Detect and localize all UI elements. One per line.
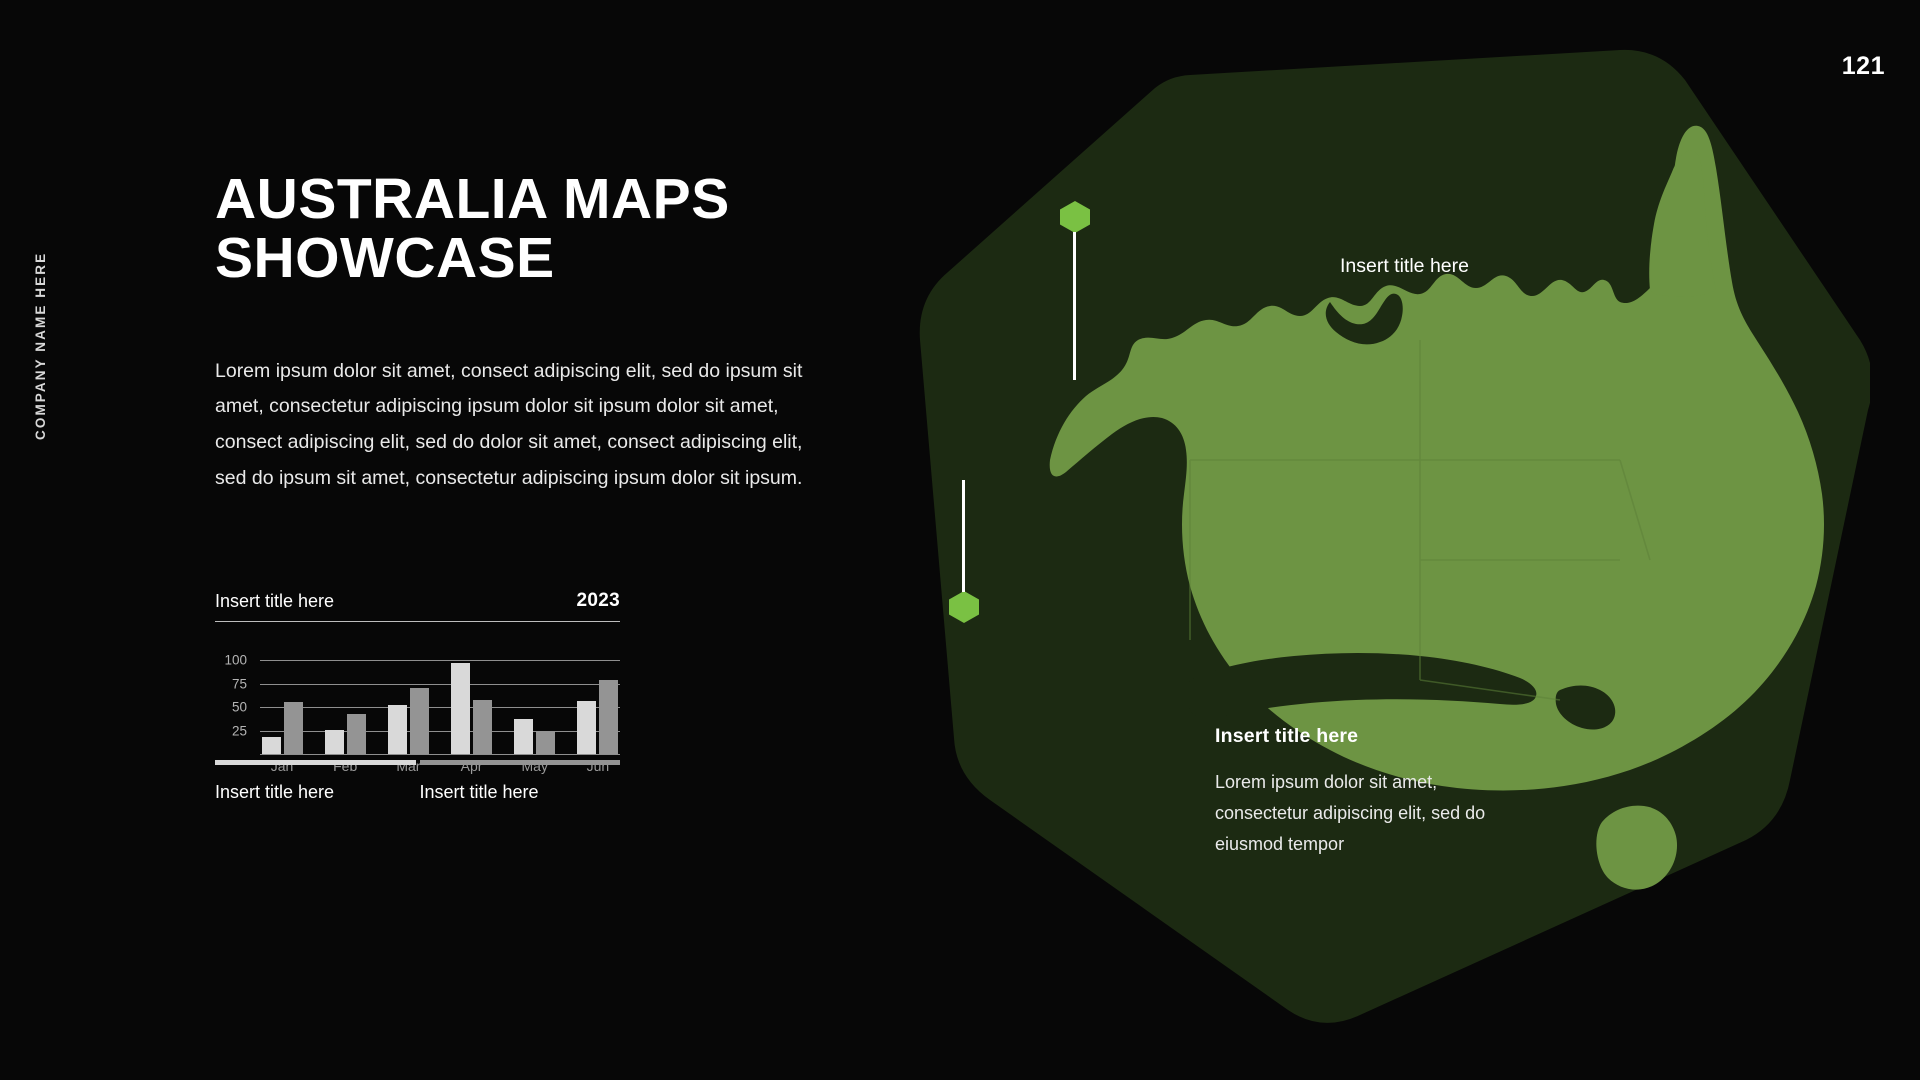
map-pin-description-bottom: Lorem ipsum dolor sit amet, consectetur …: [1215, 767, 1515, 860]
bar-chart: Insert title here 2023 100755025 JanFebM…: [215, 590, 620, 776]
bar-group: [576, 680, 620, 754]
chart-legend: Insert title here Insert title here: [215, 760, 620, 803]
chart-plot-area: 100755025 JanFebMarAprMayJun: [215, 646, 620, 776]
page-title: AUSTRALIA MAPS SHOWCASE: [215, 170, 855, 289]
bar-series-1: [388, 705, 407, 754]
company-name-vertical: COMPANY NAME HERE: [33, 252, 48, 440]
bar-series-2: [410, 688, 429, 754]
bar-group: [323, 714, 367, 754]
map-pin-hex-top[interactable]: [1058, 200, 1092, 234]
y-tick-label: 75: [215, 676, 247, 691]
gridline-baseline: [260, 754, 620, 755]
map-pin-stem-top: [1073, 232, 1076, 380]
map-pin-stem-bottom: [962, 480, 965, 592]
legend-color-bars: [215, 760, 620, 765]
legend-label-series-2: Insert title here: [420, 782, 621, 803]
bar-series-2: [473, 700, 492, 754]
legend-label-series-1: Insert title here: [215, 782, 416, 803]
body-paragraph: Lorem ipsum dolor sit amet, consect adip…: [215, 354, 820, 498]
bar-group: [513, 719, 557, 754]
chart-title: Insert title here: [215, 591, 334, 612]
map-pin-label-bottom: Insert title here: [1215, 725, 1515, 748]
bar-series-2: [536, 731, 555, 754]
australia-map-graphic: [860, 40, 1870, 1040]
bar-group: [450, 663, 494, 754]
chart-year: 2023: [577, 590, 620, 612]
chart-header: Insert title here 2023: [215, 590, 620, 621]
bar-group: [260, 702, 304, 754]
chart-header-divider: [215, 621, 620, 622]
bar-series-1: [451, 663, 470, 754]
bar-series-2: [284, 702, 303, 754]
chart-bars: [260, 646, 620, 754]
y-tick-label: 50: [215, 700, 247, 715]
bar-series-1: [577, 701, 596, 754]
map-pin-label-top: Insert title here: [1340, 255, 1469, 278]
bar-group: [386, 688, 430, 754]
bar-series-2: [599, 680, 618, 754]
bar-series-1: [262, 737, 281, 754]
bar-series-1: [514, 719, 533, 754]
slide: 121 COMPANY NAME HERE AUSTRALIA MAPS SHO…: [0, 0, 1920, 1080]
y-tick-label: 100: [215, 653, 247, 668]
bar-series-1: [325, 730, 344, 754]
legend-swatch-series-1: [215, 760, 416, 765]
chart-y-axis: 100755025: [215, 646, 247, 754]
y-tick-label: 25: [215, 723, 247, 738]
left-content-column: AUSTRALIA MAPS SHOWCASE Lorem ipsum dolo…: [215, 170, 855, 497]
map-pin-callout-bottom: Insert title here Lorem ipsum dolor sit …: [1215, 725, 1515, 860]
legend-label-row: Insert title here Insert title here: [215, 782, 620, 803]
legend-swatch-series-2: [420, 760, 621, 765]
map-pin-hex-bottom[interactable]: [947, 590, 981, 624]
map-panel: [860, 40, 1870, 1040]
bar-series-2: [347, 714, 366, 754]
